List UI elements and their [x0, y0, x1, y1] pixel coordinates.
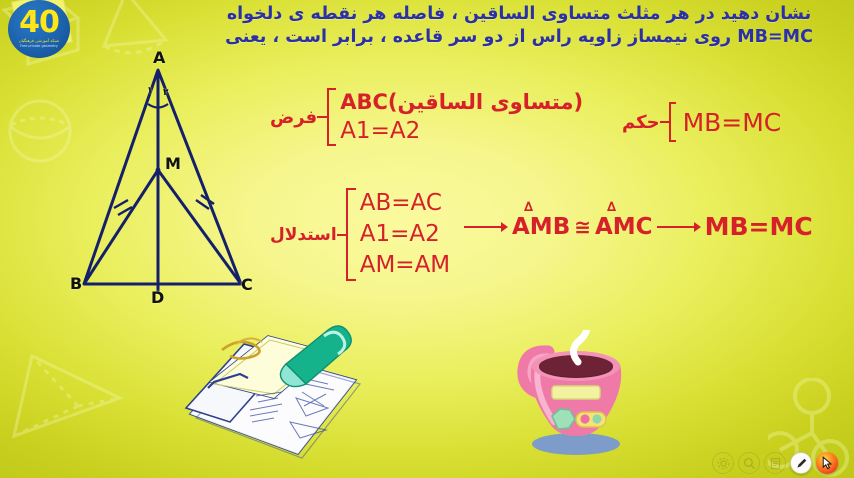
- vertex-label-M: M: [165, 154, 181, 173]
- hypothesis-bracket: [327, 88, 336, 146]
- hypothesis-triangle-name: ABC: [340, 90, 388, 114]
- angle-label-2: ۲: [163, 88, 169, 98]
- reasoning-block: استدلال AB=AC A1=A2 AM=AM: [268, 188, 450, 281]
- title-formula: MB=MC: [737, 27, 813, 47]
- congruence-left-label: AMB: [512, 214, 570, 240]
- notebook-illustration: [178, 322, 368, 462]
- triangle-cap-right: ∆: [607, 203, 616, 213]
- hypothesis-row-1: (متساوی الساقین)ABC: [340, 88, 583, 116]
- hypothesis-dash: [317, 116, 327, 118]
- reasoning-row-1: AB=AC: [360, 188, 450, 219]
- reasoning-dash: [337, 234, 346, 236]
- logo-subtitle-fa: شبکه آموزشی فرهنگیان: [19, 38, 59, 43]
- reasoning-rows: AB=AC A1=A2 AM=AM: [360, 188, 450, 281]
- congruence-symbol: ≅: [574, 215, 591, 239]
- congruence-right-label: AMC: [595, 214, 653, 240]
- congruence-chain: ∆AMB ≅ ∆AMC MB=MC: [460, 212, 813, 241]
- title-line-2-text: روی نیمساز زاویه راس از دو سر قاعده ، بر…: [225, 27, 731, 47]
- pyramid-decoration: [8, 338, 128, 448]
- pen-tool-icon[interactable]: [790, 452, 812, 474]
- hypothesis-row-2: A1=A2: [340, 116, 583, 146]
- slide-canvas: 40 شبکه آموزشی فرهنگیان Free private geo…: [0, 0, 854, 478]
- congruence-right-term: ∆AMC: [595, 214, 653, 240]
- conclusion-dash: [660, 121, 669, 123]
- conclusion-label: حکم: [622, 112, 660, 133]
- triangle-cap-left: ∆: [524, 203, 533, 213]
- chain-result: MB=MC: [705, 212, 813, 241]
- hypothesis-label: فرض: [270, 107, 317, 128]
- hypothesis-rows: (متساوی الساقین)ABC A1=A2: [340, 88, 583, 146]
- reasoning-bracket: [346, 188, 356, 281]
- conclusion-bracket: [669, 102, 676, 142]
- document-icon[interactable]: [764, 452, 786, 474]
- vertex-label-C: C: [241, 275, 253, 294]
- hypothesis-block: فرض (متساوی الساقین)ABC A1=A2: [268, 88, 583, 146]
- settings-icon[interactable]: [712, 452, 734, 474]
- title-line-2: MB=MC روی نیمساز زاویه راس از دو سر قاعد…: [188, 26, 850, 49]
- angle-label-1: ۱: [147, 86, 153, 96]
- logo-subtitle-en: Free private geometry: [20, 44, 58, 48]
- cursor-tool-icon[interactable]: [816, 452, 838, 474]
- vertex-label-A: A: [153, 48, 165, 67]
- triangle-svg: [55, 48, 285, 303]
- arrow-2: [657, 222, 701, 232]
- hypothesis-note: (متساوی الساقین): [388, 90, 583, 114]
- vertex-label-D: D: [151, 288, 164, 307]
- arrow-1: [464, 222, 508, 232]
- reasoning-row-2: A1=A2: [360, 219, 450, 250]
- conclusion-block: حکم MB=MC: [620, 102, 781, 142]
- player-toolbar[interactable]: [712, 452, 838, 474]
- vertex-label-B: B: [70, 274, 82, 293]
- congruence-left-term: ∆AMB: [512, 214, 570, 240]
- coffee-cup-illustration: [512, 330, 640, 460]
- triangle-diagram: ۱ ۲ A B C D M: [55, 48, 285, 303]
- conclusion-value: MB=MC: [683, 108, 782, 137]
- reasoning-label: استدلال: [270, 225, 337, 245]
- search-icon[interactable]: [738, 452, 760, 474]
- page-title: نشان دهید در هر مثلث متساوی الساقین ، فا…: [188, 3, 850, 49]
- reasoning-row-3: AM=AM: [360, 250, 450, 281]
- title-line-1: نشان دهید در هر مثلث متساوی الساقین ، فا…: [188, 3, 850, 26]
- logo-number: 40: [19, 9, 59, 37]
